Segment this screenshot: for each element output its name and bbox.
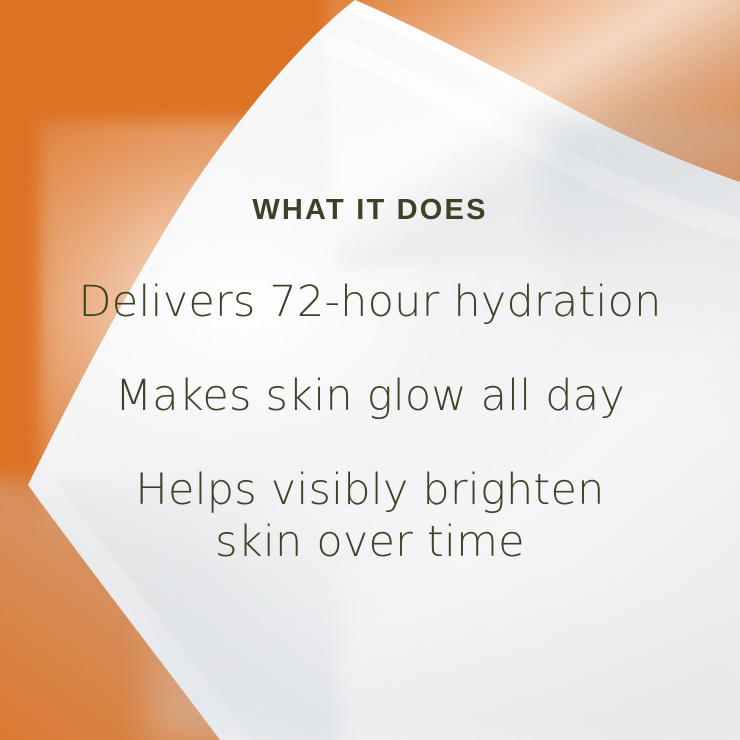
section-heading: WHAT IT DOES	[252, 196, 487, 225]
benefit-item: Makes skin glow all day	[0, 370, 740, 422]
promo-canvas: WHAT IT DOES Delivers 72-hour hydration …	[0, 0, 740, 740]
text-block: WHAT IT DOES Delivers 72-hour hydration …	[0, 0, 740, 740]
benefit-list: Delivers 72-hour hydration Makes skin gl…	[0, 225, 740, 568]
benefit-item: Helps visibly brighten skin over time	[0, 464, 740, 568]
benefit-item: Delivers 72-hour hydration	[0, 276, 740, 328]
